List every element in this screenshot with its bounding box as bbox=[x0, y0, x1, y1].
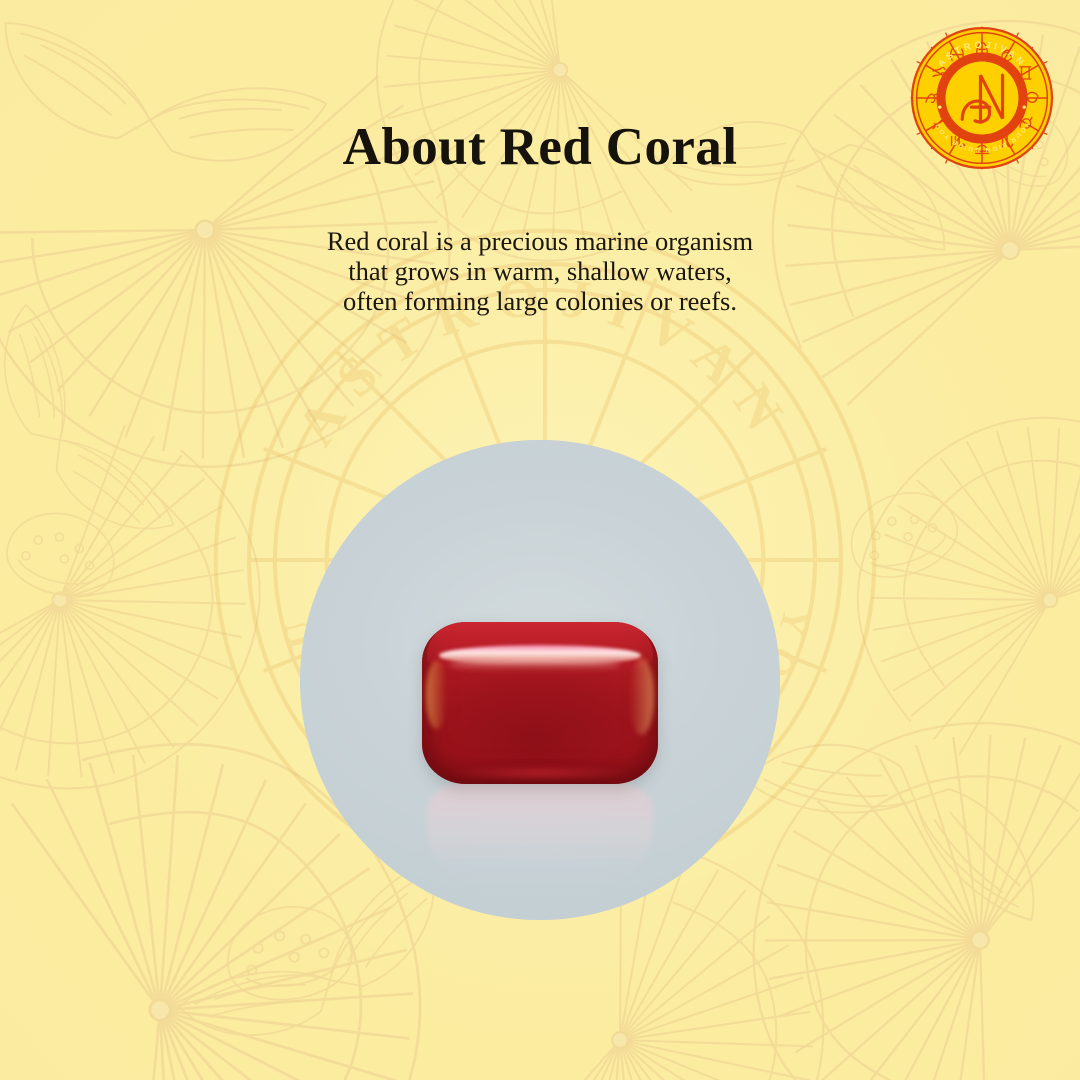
gem-edge-highlight-right bbox=[629, 658, 655, 736]
gem-bottom-glow bbox=[450, 765, 629, 781]
gem-reflection bbox=[427, 782, 653, 890]
gem-edge-highlight-left bbox=[426, 661, 447, 729]
gem-specular-highlight bbox=[439, 645, 642, 666]
astrojivan-zodiac-wheel-logo[interactable]: ASTROJIVAN YOUR SIGN GUIDE YOU bbox=[906, 22, 1058, 174]
description-text: Red coral is a precious marine organism … bbox=[324, 226, 756, 316]
red-coral-cabochon-gemstone bbox=[422, 622, 658, 784]
poster-canvas: ASTROJIVAN YOUR SIGN GUIDE YOU About Red… bbox=[0, 0, 1080, 1080]
product-photo-circle bbox=[300, 440, 780, 920]
gem-body bbox=[422, 622, 658, 784]
